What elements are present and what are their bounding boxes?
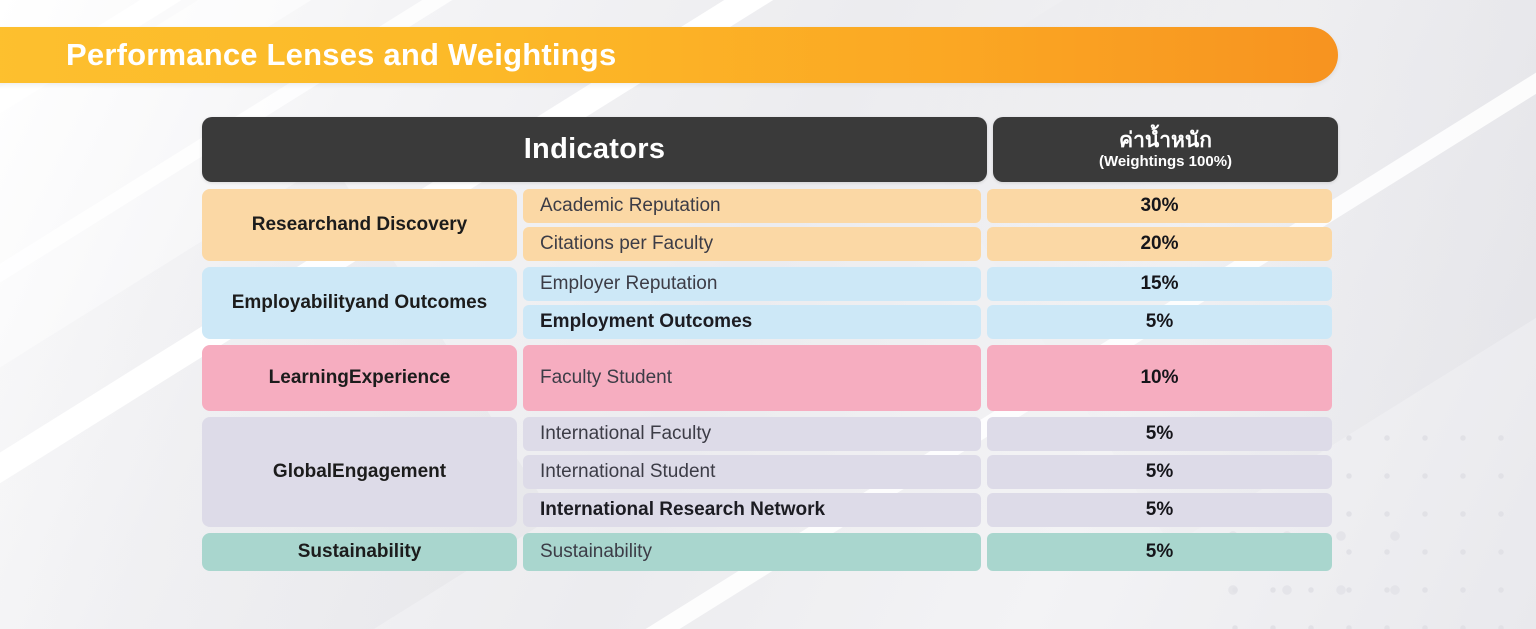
weighting-cell: 20% [987, 227, 1332, 261]
group-rows: International Faculty5%International Stu… [523, 417, 1338, 527]
header-weightings-sub-label: (Weightings 100%) [1099, 153, 1232, 170]
category-cell: Researchand Discovery [202, 189, 517, 261]
indicator-cell: Faculty Student [523, 345, 981, 411]
category-cell: GlobalEngagement [202, 417, 517, 527]
table-group: Researchand DiscoveryAcademic Reputation… [202, 189, 1338, 261]
weighting-cell: 30% [987, 189, 1332, 223]
category-label: Learning [269, 366, 349, 389]
indicator-cell: Academic Reputation [523, 189, 981, 223]
group-rows: Employer Reputation15%Employment Outcome… [523, 267, 1338, 339]
indicator-cell: International Student [523, 455, 981, 489]
weighting-cell: 10% [987, 345, 1332, 411]
table-group: GlobalEngagementInternational Faculty5%I… [202, 417, 1338, 527]
indicator-cell: International Research Network [523, 493, 981, 527]
indicator-cell: Sustainability [523, 533, 981, 571]
slide-canvas: Performance Lenses and Weightings Indica… [0, 0, 1536, 629]
title-banner: Performance Lenses and Weightings [0, 27, 1338, 83]
weighting-cell: 5% [987, 493, 1332, 527]
category-cell: Employabilityand Outcomes [202, 267, 517, 339]
category-label-line2: Experience [349, 366, 450, 389]
category-label-line2: and Outcomes [355, 291, 487, 314]
header-cell-indicators: Indicators [202, 117, 987, 182]
header-indicators-label: Indicators [524, 133, 666, 166]
table-group: LearningExperienceFaculty Student10% [202, 345, 1338, 411]
weighting-cell: 5% [987, 305, 1332, 339]
weightings-table: Indicators ค่าน้ำหนัก (Weightings 100%) … [202, 117, 1338, 577]
table-row: Faculty Student10% [523, 345, 1338, 411]
table-row: Citations per Faculty20% [523, 227, 1338, 261]
category-cell: Sustainability [202, 533, 517, 571]
indicator-cell: International Faculty [523, 417, 981, 451]
table-row: International Faculty5% [523, 417, 1338, 451]
table-row: Employer Reputation15% [523, 267, 1338, 301]
indicator-cell: Employer Reputation [523, 267, 981, 301]
table-row: International Research Network5% [523, 493, 1338, 527]
category-label: Global [273, 460, 332, 483]
category-label: Sustainability [298, 540, 422, 563]
group-rows: Faculty Student10% [523, 345, 1338, 411]
table-header-row: Indicators ค่าน้ำหนัก (Weightings 100%) [202, 117, 1338, 182]
table-group: SustainabilitySustainability5% [202, 533, 1338, 571]
weighting-cell: 15% [987, 267, 1332, 301]
category-label: Research [252, 213, 338, 236]
header-cell-weightings: ค่าน้ำหนัก (Weightings 100%) [993, 117, 1338, 182]
table-row: International Student5% [523, 455, 1338, 489]
group-rows: Academic Reputation30%Citations per Facu… [523, 189, 1338, 261]
table-group: Employabilityand OutcomesEmployer Reputa… [202, 267, 1338, 339]
group-rows: Sustainability5% [523, 533, 1338, 571]
table-row: Academic Reputation30% [523, 189, 1338, 223]
category-cell: LearningExperience [202, 345, 517, 411]
indicator-cell: Citations per Faculty [523, 227, 981, 261]
header-weightings-thai-label: ค่าน้ำหนัก [1119, 129, 1212, 152]
category-label-line2: and Discovery [337, 213, 467, 236]
weighting-cell: 5% [987, 533, 1332, 571]
weighting-cell: 5% [987, 417, 1332, 451]
category-label: Employability [232, 291, 356, 314]
table-row: Sustainability5% [523, 533, 1338, 571]
weighting-cell: 5% [987, 455, 1332, 489]
page-title: Performance Lenses and Weightings [66, 37, 616, 73]
category-label-line2: Engagement [332, 460, 446, 483]
table-body: Researchand DiscoveryAcademic Reputation… [202, 189, 1338, 571]
indicator-cell: Employment Outcomes [523, 305, 981, 339]
table-row: Employment Outcomes5% [523, 305, 1338, 339]
